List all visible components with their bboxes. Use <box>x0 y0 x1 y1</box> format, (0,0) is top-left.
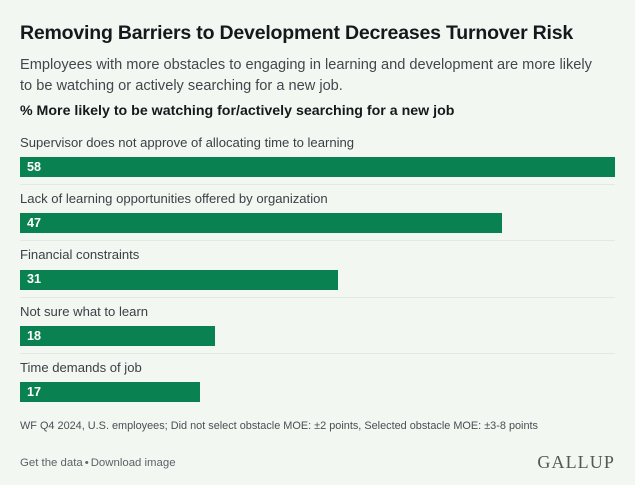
gallup-logo: GALLUP <box>537 453 615 471</box>
download-image-link[interactable]: Download image <box>91 457 176 469</box>
bar-track: 58 <box>20 157 615 177</box>
bar: 58 <box>20 157 615 177</box>
bar-value-label: 31 <box>27 273 41 286</box>
chart-row: Supervisor does not approve of allocatin… <box>20 133 615 184</box>
chart-row: Not sure what to learn 18 <box>20 297 615 353</box>
link-separator: • <box>83 457 91 469</box>
bar-category-label: Time demands of job <box>20 360 615 376</box>
chart-footer: WF Q4 2024, U.S. employees; Did not sele… <box>20 419 615 471</box>
bar: 47 <box>20 213 502 233</box>
bar-track: 18 <box>20 326 615 346</box>
bar-value-label: 58 <box>27 161 41 174</box>
footnote-text: WF Q4 2024, U.S. employees; Did not sele… <box>20 419 615 433</box>
bar-chart: Supervisor does not approve of allocatin… <box>20 133 615 410</box>
bar: 17 <box>20 382 200 402</box>
bar: 31 <box>20 270 338 290</box>
bar-value-label: 47 <box>27 217 41 230</box>
bar: 18 <box>20 326 215 346</box>
bar-value-label: 17 <box>27 386 41 399</box>
bar-track: 31 <box>20 270 615 290</box>
bar-track: 17 <box>20 382 615 402</box>
chart-card: Removing Barriers to Development Decreas… <box>0 0 635 485</box>
bar-category-label: Not sure what to learn <box>20 304 615 320</box>
bar-category-label: Lack of learning opportunities offered b… <box>20 191 615 207</box>
chart-axis-label: % More likely to be watching for/activel… <box>20 102 615 120</box>
chart-row: Financial constraints 31 <box>20 240 615 296</box>
chart-row: Lack of learning opportunities offered b… <box>20 184 615 240</box>
bar-category-label: Supervisor does not approve of allocatin… <box>20 135 615 151</box>
footer-links: Get the data•Download image <box>20 457 176 471</box>
page-title: Removing Barriers to Development Decreas… <box>20 22 615 46</box>
bar-track: 47 <box>20 213 615 233</box>
footer-bottom-bar: Get the data•Download image GALLUP <box>20 453 615 471</box>
bar-value-label: 18 <box>27 330 41 343</box>
chart-row: Time demands of job 17 <box>20 353 615 409</box>
get-the-data-link[interactable]: Get the data <box>20 457 83 469</box>
chart-subtitle: Employees with more obstacles to engagin… <box>20 55 595 96</box>
bar-category-label: Financial constraints <box>20 247 615 263</box>
